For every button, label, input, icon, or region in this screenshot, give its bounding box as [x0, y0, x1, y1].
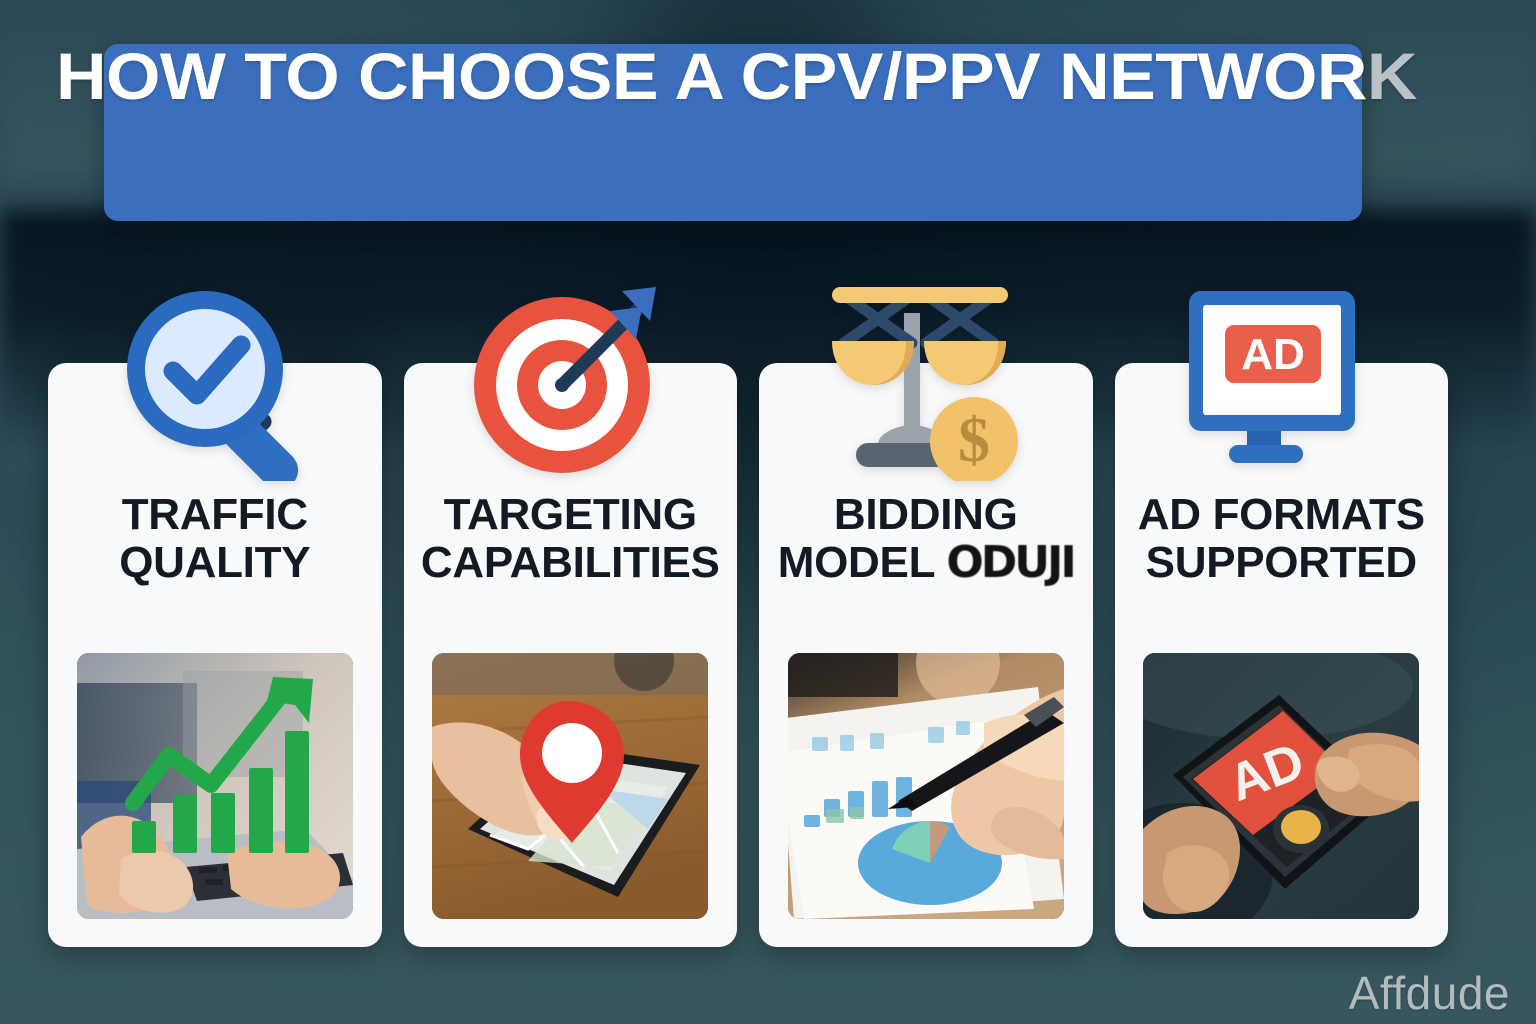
card-title-line-1: TRAFFIC [122, 490, 308, 539]
card-ad-formats-supported[interactable]: AD AD FORMATSSUPPORTED [1115, 363, 1449, 947]
card-title-targeting-capabilities: TARGETINGCAPABILITIES [415, 491, 726, 588]
page-title-overflow-glyph: K [1367, 39, 1417, 113]
card-title-line-2: MODEL [778, 538, 935, 587]
card-title-line-1: TARGETING [444, 490, 697, 539]
monitor-ad-icon: AD [1176, 281, 1386, 481]
magnifier-check-icon [110, 281, 320, 481]
laptop-growth-chart-photo [77, 653, 353, 919]
card-title-line-2: SUPPORTED [1146, 538, 1417, 587]
monitor-ad-label: AD [1241, 330, 1305, 379]
page-title: HOW TO CHOOSE A CPV/PPV NETWORK [56, 42, 1536, 111]
target-arrow-icon [465, 281, 675, 481]
balance-scale-coin-icon: $ [821, 281, 1031, 481]
card-title-line-1: BIDDING [834, 490, 1018, 539]
infographic-canvas: HOW TO CHOOSE A CPV/PPV NETWORK TRAFFICQ… [0, 0, 1536, 1024]
card-targeting-capabilities[interactable]: TARGETINGCAPABILITIES [404, 363, 738, 947]
card-title-artifact: ODUJI [946, 537, 1073, 588]
card-title-ad-formats-supported: AD FORMATSSUPPORTED [1132, 491, 1431, 588]
watermark: Affdude [1349, 966, 1510, 1020]
card-title-line-2: CAPABILITIES [421, 538, 720, 587]
card-title-line-1: AD FORMATS [1138, 490, 1425, 539]
card-title-traffic-quality: TRAFFICQUALITY [113, 491, 316, 588]
tablet-map-pin-photo [432, 653, 708, 919]
phone-ad-banner-photo: AD [1143, 653, 1419, 919]
feature-card-row: TRAFFICQUALITY [48, 363, 1448, 947]
page-title-text: HOW TO CHOOSE A CPV/PPV NETWOR [56, 39, 1367, 113]
card-title-bidding-model: BIDDINGMODEL ODUJI [772, 491, 1080, 588]
card-bidding-model[interactable]: $ BIDDINGMODEL ODUJI [759, 363, 1093, 947]
card-traffic-quality[interactable]: TRAFFICQUALITY [48, 363, 382, 947]
svg-text:$: $ [958, 404, 990, 475]
charts-paper-pen-photo [788, 653, 1064, 919]
card-title-line-2: QUALITY [119, 538, 310, 587]
